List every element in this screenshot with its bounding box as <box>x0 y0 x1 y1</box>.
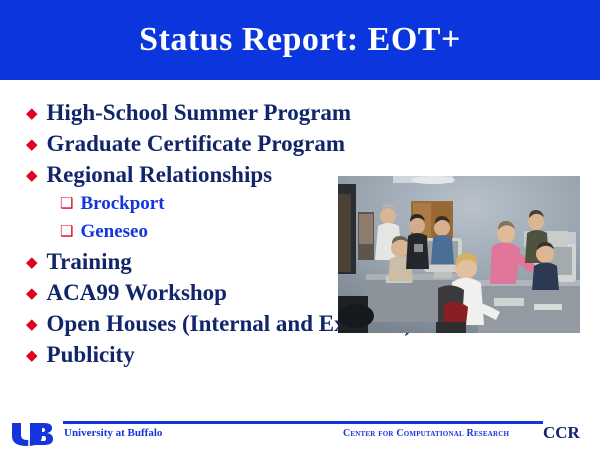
sub-list-item-label: Brockport <box>80 193 164 215</box>
footer-center-label: Center for Computational Research <box>343 428 509 439</box>
slide: Status Report: EOT+ ◆ High-School Summer… <box>0 0 600 450</box>
diamond-bullet-icon: ◆ <box>26 287 38 302</box>
diamond-bullet-icon: ◆ <box>26 107 38 122</box>
footer-ccr-label: CCR <box>543 423 580 443</box>
list-item-label: High-School Summer Program <box>47 100 352 126</box>
title-banner: Status Report: EOT+ <box>0 0 600 80</box>
list-item-label: Training <box>47 249 132 275</box>
ub-logo-icon <box>10 421 58 447</box>
diamond-bullet-icon: ◆ <box>26 318 38 333</box>
diamond-bullet-icon: ◆ <box>26 169 38 184</box>
list-item-label: ACA99 Workshop <box>47 280 227 306</box>
list-item-label: Regional Relationships <box>47 162 273 188</box>
list-item: ◆ Graduate Certificate Program <box>26 131 546 162</box>
diamond-bullet-icon: ◆ <box>26 256 38 271</box>
page-title: Status Report: EOT+ <box>0 0 600 80</box>
list-item: ◆ High-School Summer Program <box>26 100 546 131</box>
diamond-bullet-icon: ◆ <box>26 138 38 153</box>
square-bullet-icon: ❑ <box>60 225 73 240</box>
sub-list-item-label: Geneseo <box>80 221 148 243</box>
lab-photo <box>338 176 580 333</box>
square-bullet-icon: ❑ <box>60 197 73 212</box>
footer-divider <box>63 421 543 424</box>
list-item: ◆ Publicity <box>26 342 546 373</box>
footer-institution-label: University at Buffalo <box>64 427 162 439</box>
list-item-label: Publicity <box>47 342 135 368</box>
list-item-label: Graduate Certificate Program <box>47 131 345 157</box>
diamond-bullet-icon: ◆ <box>26 349 38 364</box>
